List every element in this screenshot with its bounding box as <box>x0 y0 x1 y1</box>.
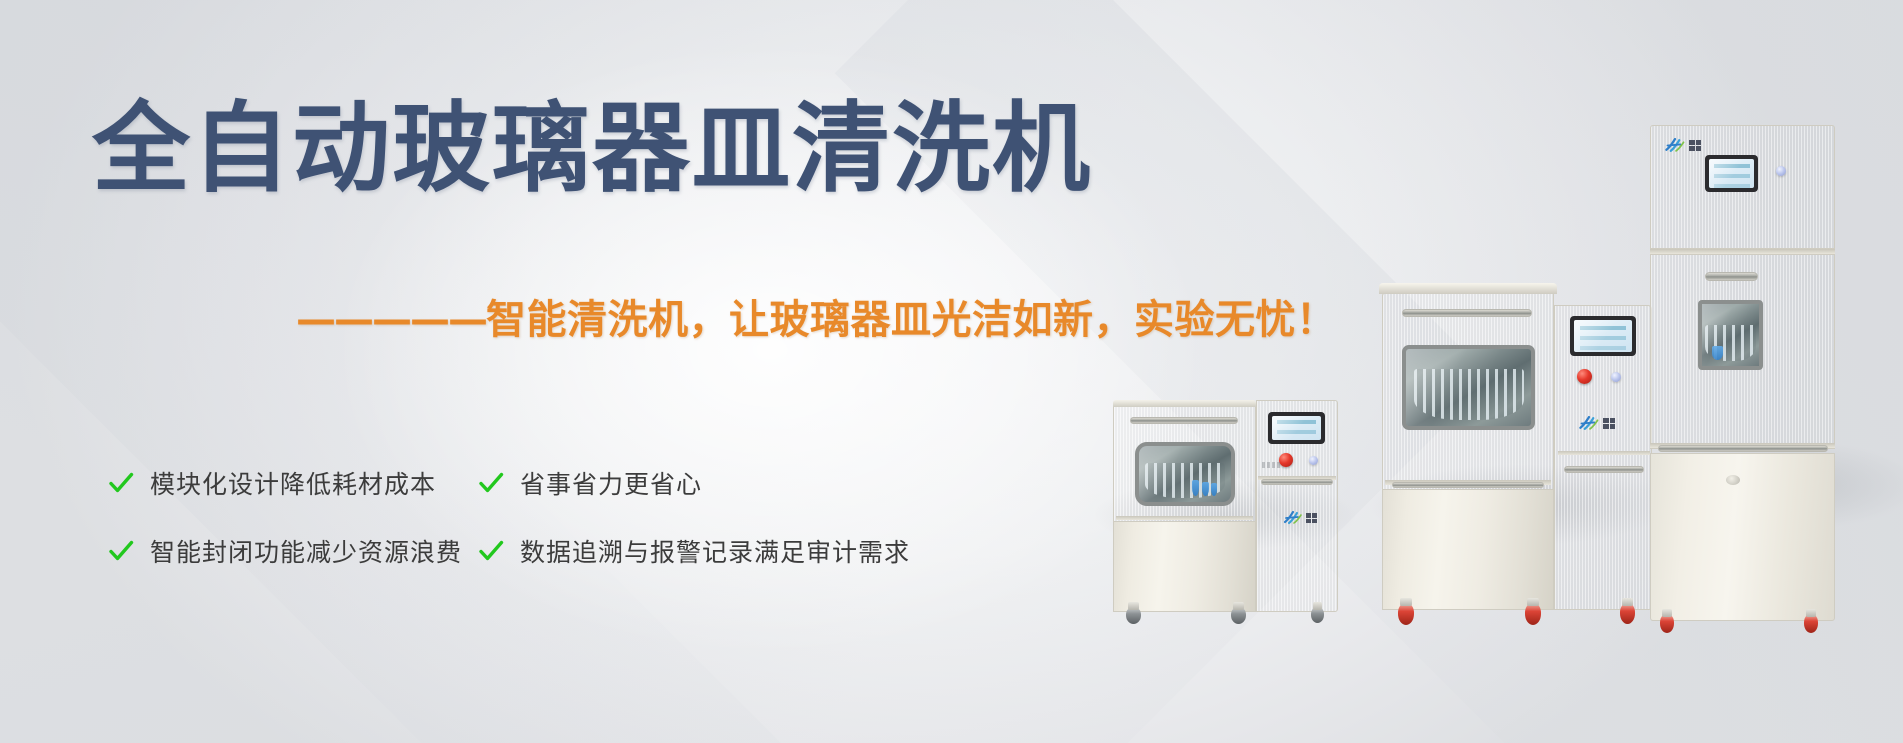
blue-pipette <box>1712 346 1723 360</box>
h-mark-icon <box>1283 511 1303 525</box>
control-column-seam <box>1558 451 1650 455</box>
caster-wheel <box>1398 603 1414 625</box>
chamber-seam <box>1116 516 1253 520</box>
power-button[interactable] <box>1309 456 1318 465</box>
logo-wordmark <box>1603 418 1615 429</box>
service-door-handle <box>1564 466 1644 473</box>
chamber-top-lip <box>1379 283 1557 294</box>
product-freestanding-glassware-washer <box>1382 283 1672 628</box>
lower-drawer-panel <box>1113 521 1256 612</box>
h-mark-icon <box>1664 138 1686 153</box>
h-mark-icon <box>1578 416 1600 431</box>
glassware-load <box>1414 369 1524 420</box>
chamber-vent-handle <box>1130 417 1238 424</box>
brand-logo <box>1283 511 1317 525</box>
caster-wheel <box>1620 603 1635 624</box>
caster-wheel <box>1231 607 1246 624</box>
cabinet-latch-icon <box>1726 475 1740 485</box>
power-button[interactable] <box>1776 166 1786 176</box>
blue-pipette <box>1211 483 1217 496</box>
lower-storage-cabinet <box>1650 453 1835 621</box>
logo-wordmark <box>1306 513 1317 523</box>
product-tall-column-glassware-washer <box>1650 125 1860 630</box>
chamber-view-window <box>1402 345 1535 430</box>
chamber-top-lip <box>1113 400 1256 407</box>
caster-wheel <box>1311 607 1324 623</box>
blue-pipette <box>1202 482 1209 497</box>
glassware-load <box>1705 325 1755 361</box>
power-button[interactable] <box>1611 372 1621 382</box>
product-undercounter-glassware-washer <box>1113 400 1358 625</box>
caster-wheel <box>1525 603 1541 625</box>
brand-logo <box>1578 416 1615 431</box>
base-drawer-handle <box>1392 482 1544 488</box>
blue-pipette <box>1192 480 1199 497</box>
lower-drawer-panel <box>1382 489 1554 610</box>
service-door-handle <box>1261 479 1333 485</box>
control-touchscreen[interactable] <box>1705 155 1758 192</box>
product-banner: 全自动玻璃器皿清洗机 —————智能清洗机，让玻璃器皿光洁如新，实验无忧！ 模块… <box>0 0 1903 743</box>
glassware-load <box>1145 463 1226 498</box>
caster-wheel <box>1804 614 1818 633</box>
emergency-stop-button[interactable] <box>1577 369 1592 384</box>
control-touchscreen[interactable] <box>1268 412 1325 444</box>
chamber-view-window <box>1135 442 1235 506</box>
chamber-vent-handle <box>1705 272 1758 281</box>
base-door-handle <box>1658 445 1828 452</box>
caster-wheel <box>1660 614 1674 633</box>
chamber-view-window <box>1698 300 1763 370</box>
model-label <box>1262 462 1282 468</box>
logo-wordmark <box>1689 140 1701 151</box>
chamber-vent-handle <box>1402 309 1532 317</box>
control-touchscreen[interactable] <box>1570 316 1636 356</box>
product-images <box>0 0 1903 743</box>
brand-logo <box>1664 138 1701 153</box>
caster-wheel <box>1126 607 1141 624</box>
